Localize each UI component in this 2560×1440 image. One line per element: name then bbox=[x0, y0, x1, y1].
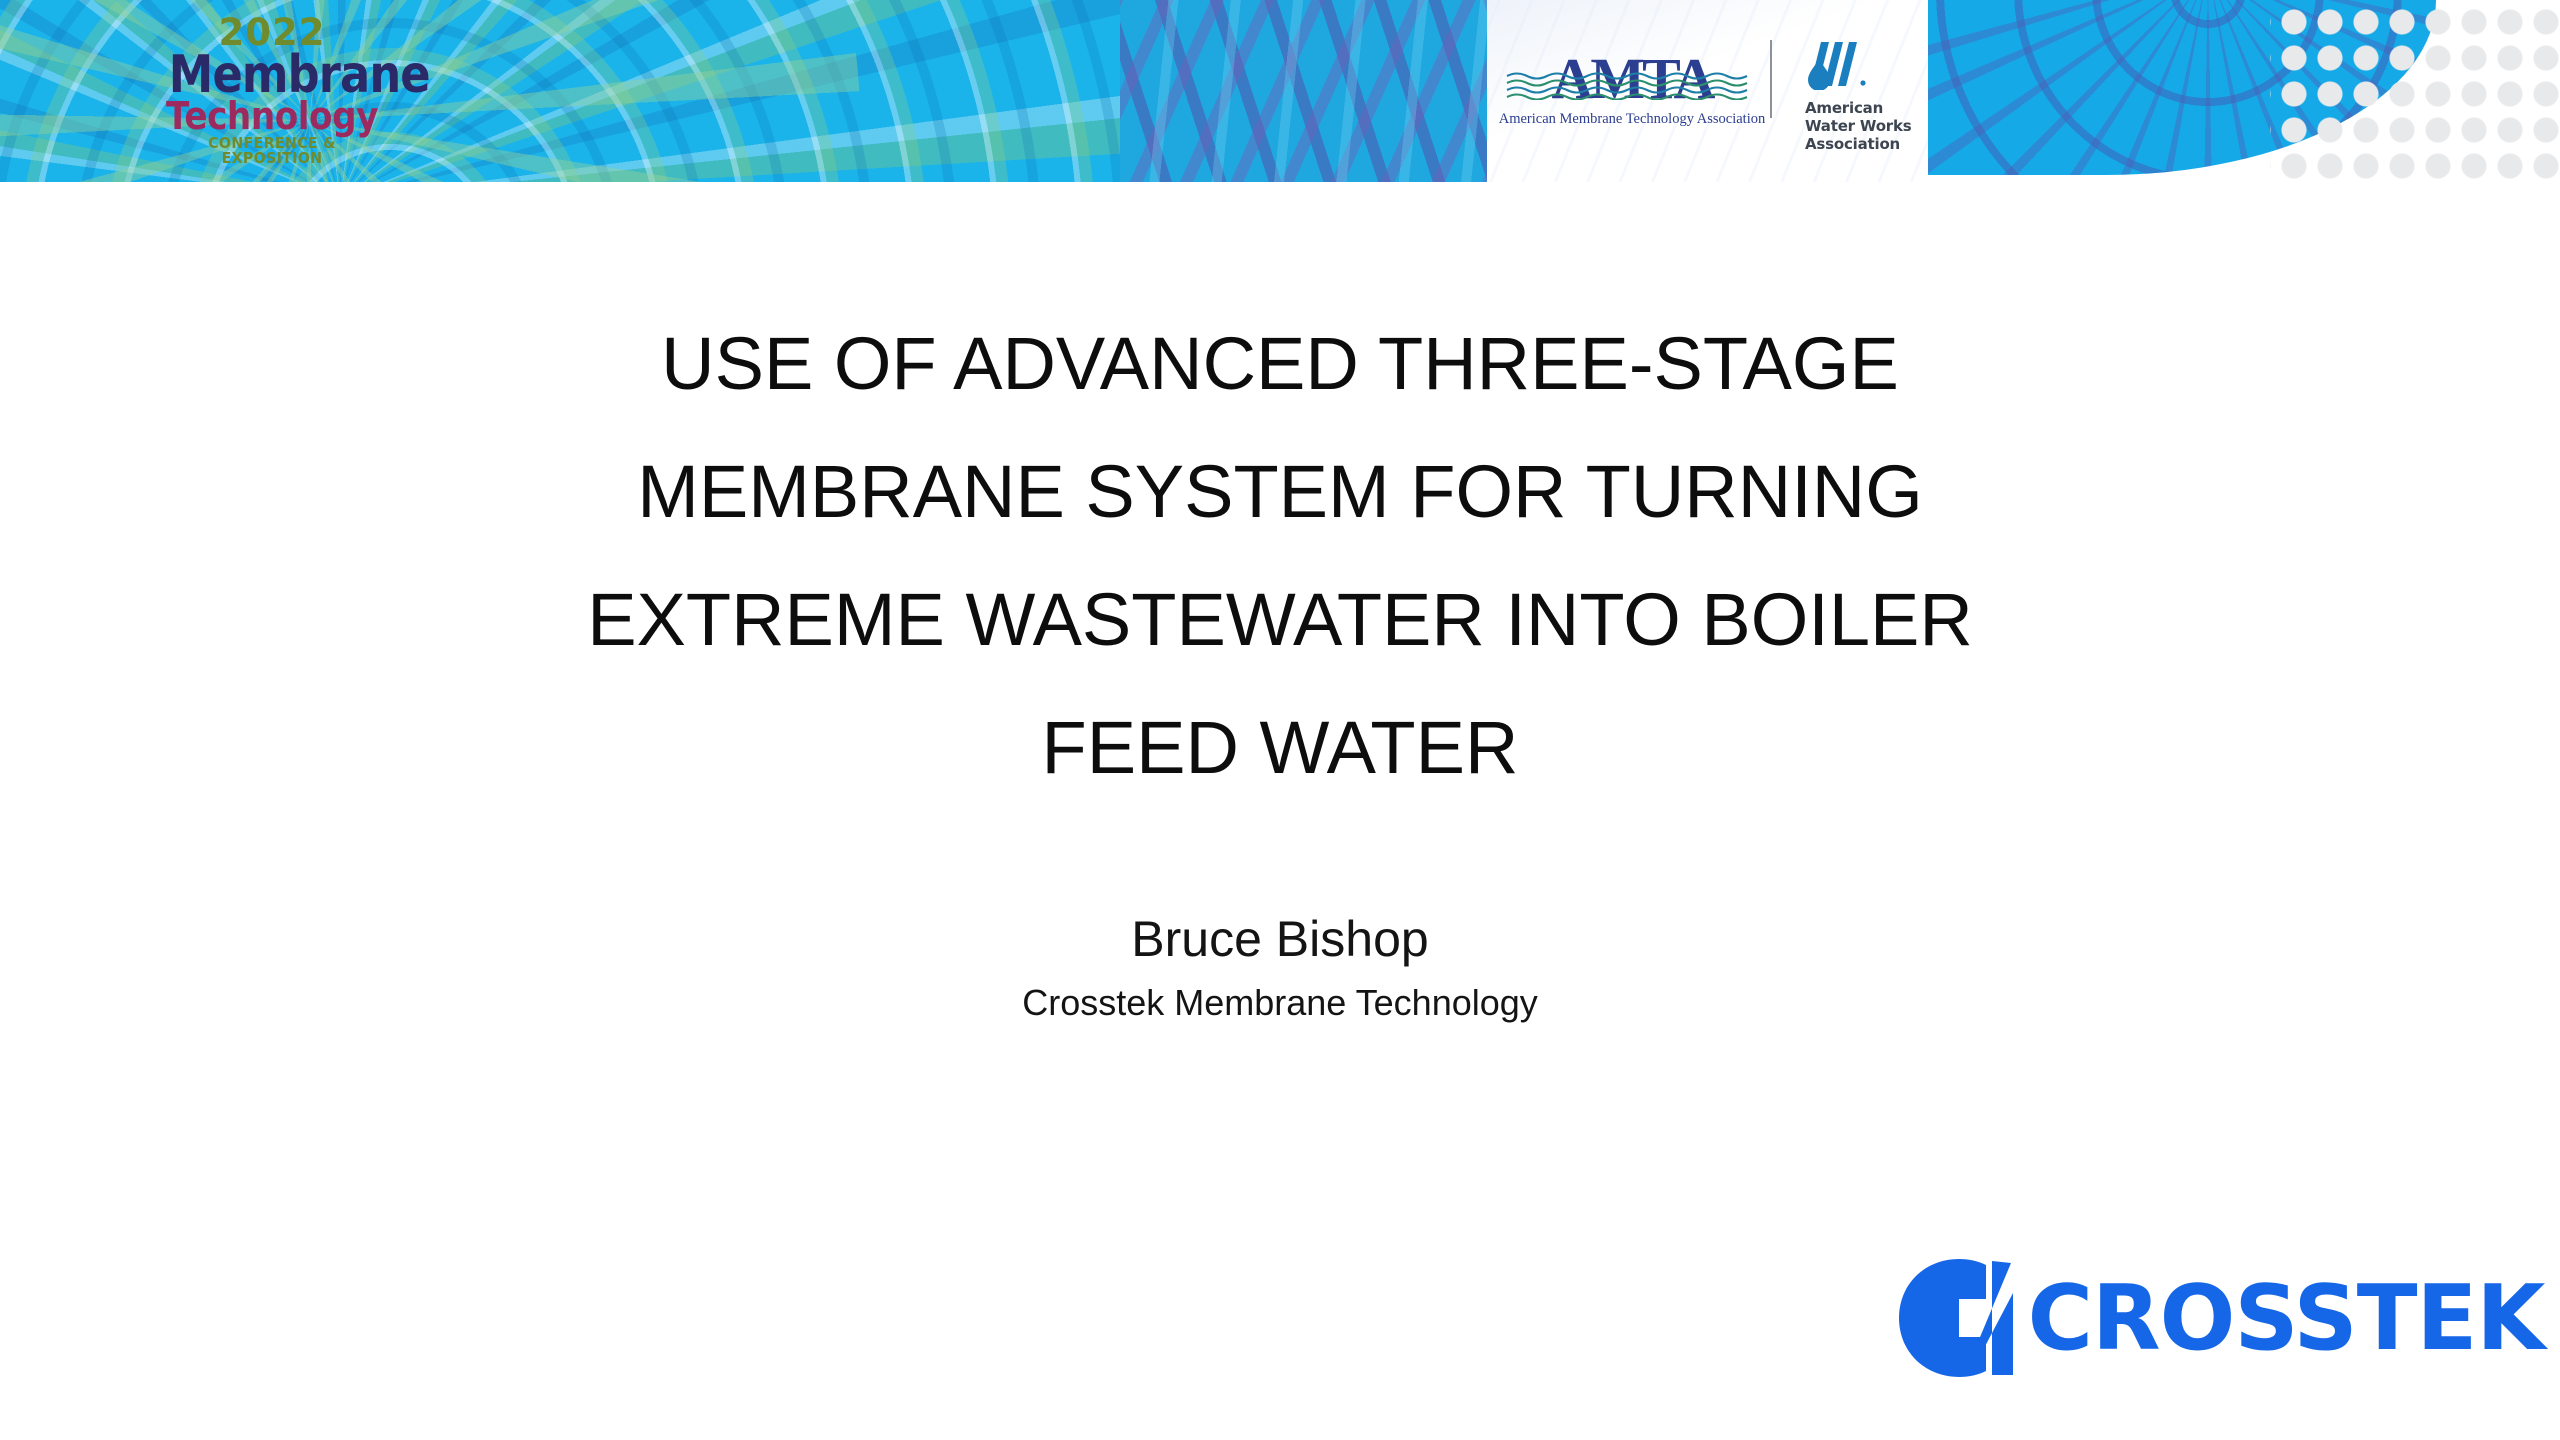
banner-green-rays bbox=[0, 0, 860, 182]
presenter-name: Bruce Bishop bbox=[130, 908, 2430, 970]
slide-title-line-4: FEED WATER bbox=[130, 684, 2430, 812]
banner-crosshatch-graphic-middle bbox=[1120, 0, 1500, 182]
slide-title: USE OF ADVANCED THREE-STAGE MEMBRANE SYS… bbox=[130, 300, 2430, 812]
amta-mark: AMTA bbox=[1497, 48, 1767, 110]
awwa-name-line1: American Water Works bbox=[1805, 99, 1925, 135]
conference-logo-technology-text: Technology bbox=[164, 97, 380, 135]
amta-acronym: AMTA bbox=[1497, 48, 1767, 110]
slide-title-line-2: MEMBRANE SYSTEM FOR TURNING bbox=[130, 428, 2430, 556]
crosstek-wordmark: CROSSTEK bbox=[2028, 1266, 2545, 1371]
logo-divider bbox=[1770, 40, 1772, 118]
crosstek-c-mark-icon bbox=[1893, 1255, 2021, 1381]
awwa-drop-and-bars-icon bbox=[1805, 40, 1877, 90]
banner-hatch-lightblue bbox=[1120, 0, 1500, 182]
slide-title-line-3: EXTREME WASTEWATER INTO BOILER bbox=[130, 556, 2430, 684]
membrane-technology-conference-logo: 2022 Membrane Technology CONFERENCE & EX… bbox=[152, 14, 392, 174]
presenter-affiliation: Crosstek Membrane Technology bbox=[130, 980, 2430, 1026]
conference-logo-subtitle: CONFERENCE & EXPOSITION bbox=[158, 136, 386, 166]
awwa-name: American Water Works Association bbox=[1805, 99, 1925, 153]
amta-full-name: American Membrane Technology Association bbox=[1497, 111, 1767, 128]
banner-dot-grid bbox=[2270, 0, 2560, 182]
awwa-name-line2: Association bbox=[1805, 135, 1925, 153]
slide-title-line-1: USE OF ADVANCED THREE-STAGE bbox=[130, 300, 2430, 428]
crosstek-logo: CROSSTEK bbox=[1893, 1252, 2547, 1384]
amta-logo: AMTA American Membrane Technology Associ… bbox=[1497, 48, 1767, 128]
awwa-logo: American Water Works Association bbox=[1805, 40, 1925, 153]
top-banner: 2022 Membrane Technology CONFERENCE & EX… bbox=[0, 0, 2560, 182]
